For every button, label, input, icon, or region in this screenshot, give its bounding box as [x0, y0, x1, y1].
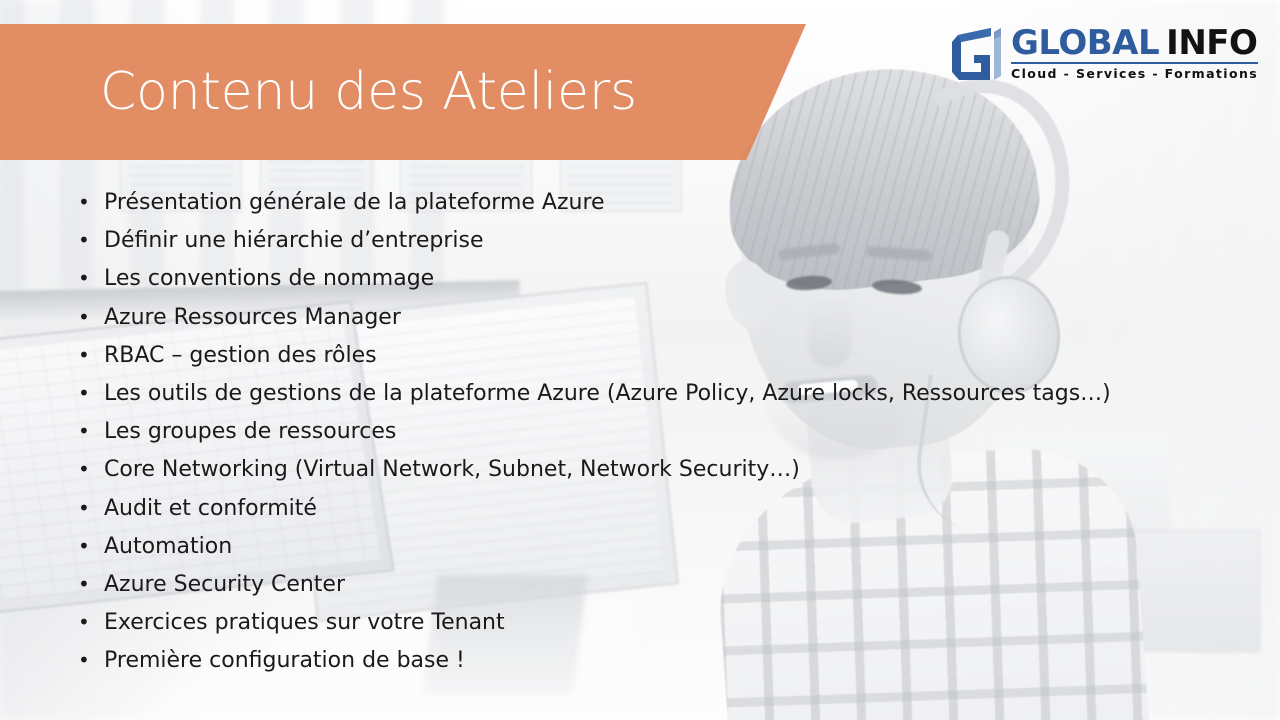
list-item: • Exercices pratiques sur votre Tenant	[78, 610, 1238, 648]
bullet-dot-icon: •	[78, 459, 104, 479]
list-item-label: Azure Ressources Manager	[104, 305, 401, 330]
list-item-label: Définir une hiérarchie d’entreprise	[104, 228, 483, 253]
brand-title-line: GLOBALINFO	[1011, 26, 1258, 61]
list-item: • RBAC – gestion des rôles	[78, 343, 1238, 381]
bullet-dot-icon: •	[78, 383, 104, 403]
bullet-dot-icon: •	[78, 192, 104, 212]
bullet-dot-icon: •	[78, 612, 104, 632]
list-item: • Azure Ressources Manager	[78, 305, 1238, 343]
presentation-slide: Contenu des Ateliers GLOBALINFO Cloud - …	[0, 0, 1280, 720]
list-item-label: Les outils de gestions de la plateforme …	[104, 381, 1111, 406]
list-item: • Core Networking (Virtual Network, Subn…	[78, 457, 1238, 495]
bullet-dot-icon: •	[78, 536, 104, 556]
list-item: • Les conventions de nommage	[78, 266, 1238, 304]
list-item-label: Azure Security Center	[104, 572, 345, 597]
bullet-dot-icon: •	[78, 345, 104, 365]
bullet-dot-icon: •	[78, 307, 104, 327]
list-item-label: Les conventions de nommage	[104, 266, 434, 291]
bullet-dot-icon: •	[78, 650, 104, 670]
list-item: • Définir une hiérarchie d’entreprise	[78, 228, 1238, 266]
content-bullet-list: • Présentation générale de la plateforme…	[78, 190, 1238, 686]
bullet-dot-icon: •	[78, 574, 104, 594]
bullet-dot-icon: •	[78, 498, 104, 518]
list-item-label: Core Networking (Virtual Network, Subnet…	[104, 457, 800, 482]
brand-divider	[1011, 62, 1258, 64]
list-item-label: Les groupes de ressources	[104, 419, 396, 444]
global-info-g-mark-icon	[950, 26, 1002, 89]
list-item: • Première configuration de base !	[78, 648, 1238, 686]
list-item: • Présentation générale de la plateforme…	[78, 190, 1238, 228]
list-item-label: Présentation générale de la plateforme A…	[104, 190, 605, 215]
page-title: Contenu des Ateliers	[100, 24, 637, 160]
brand-logo: GLOBALINFO Cloud - Services - Formations	[950, 26, 1258, 89]
list-item: • Les outils de gestions de la plateform…	[78, 381, 1238, 419]
list-item-label: Audit et conformité	[104, 496, 317, 521]
brand-word-global: GLOBAL	[1011, 23, 1159, 63]
brand-tagline: Cloud - Services - Formations	[1011, 66, 1258, 81]
brand-word-info: INFO	[1166, 23, 1257, 63]
list-item-label: Exercices pratiques sur votre Tenant	[104, 610, 505, 635]
list-item: • Automation	[78, 534, 1238, 572]
brand-wordmark: GLOBALINFO Cloud - Services - Formations	[1011, 26, 1258, 81]
list-item-label: Première configuration de base !	[104, 648, 465, 673]
list-item: • Azure Security Center	[78, 572, 1238, 610]
list-item: • Audit et conformité	[78, 496, 1238, 534]
bullet-dot-icon: •	[78, 268, 104, 288]
list-item-label: RBAC – gestion des rôles	[104, 343, 377, 368]
list-item-label: Automation	[104, 534, 232, 559]
list-item: • Les groupes de ressources	[78, 419, 1238, 457]
bullet-dot-icon: •	[78, 230, 104, 250]
bullet-dot-icon: •	[78, 421, 104, 441]
